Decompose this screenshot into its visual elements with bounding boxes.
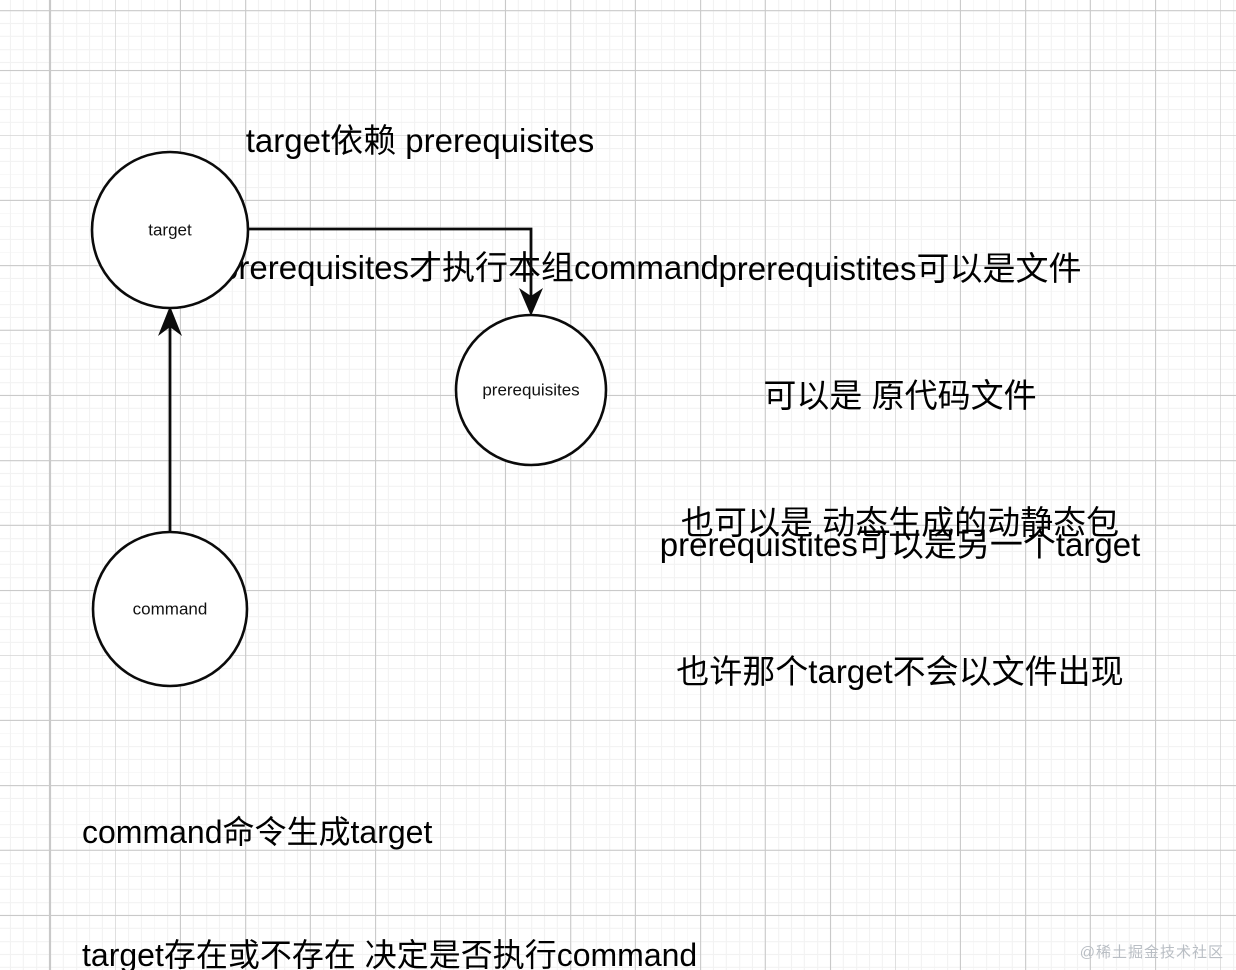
node-command[interactable]: command xyxy=(93,532,247,686)
edge-target-to-prerequisites xyxy=(249,229,543,316)
node-prerequisites-label: prerequisites xyxy=(482,380,579,399)
edge-command-to-target xyxy=(158,306,182,531)
node-target-label: target xyxy=(148,220,192,239)
watermark: @稀土掘金技术社区 xyxy=(1080,941,1224,962)
diagram-canvas: target依赖 prerequisites 执行完prerequisites才… xyxy=(0,0,1236,970)
node-target[interactable]: target xyxy=(92,152,248,308)
node-graph: target prerequisites command xyxy=(0,0,1236,970)
node-command-label: command xyxy=(133,599,208,618)
edge-target-to-prerequisites-line xyxy=(249,229,531,303)
node-prerequisites[interactable]: prerequisites xyxy=(456,315,606,465)
